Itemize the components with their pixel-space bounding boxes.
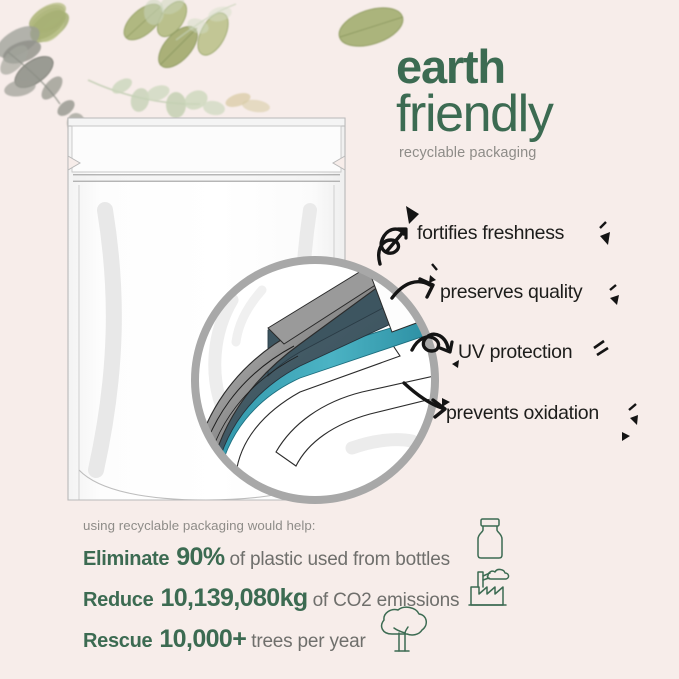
headline-line-1: earth	[396, 44, 666, 90]
accent-tick	[600, 222, 606, 228]
stat-verb: Eliminate	[83, 548, 169, 571]
smoke-cloud	[487, 569, 508, 579]
bottle-cap	[481, 519, 499, 526]
tree-branch	[405, 627, 408, 633]
accent-tick	[629, 404, 636, 410]
feature-label-uv-protection: UV protection	[458, 341, 572, 364]
stat-rest: of plastic used from bottles	[229, 549, 449, 571]
stat-row: Reduce 10,139,080kg of CO2 emissions	[83, 584, 603, 613]
stat-row: Rescue 10,000+ trees per year	[83, 625, 603, 654]
headline-subtitle: recyclable packaging	[396, 145, 666, 161]
accent-tick	[610, 285, 616, 290]
accent-tick	[594, 341, 604, 348]
stat-value: 90%	[176, 543, 224, 572]
stats-block: using recyclable packaging would help: E…	[83, 518, 603, 666]
accent-tick	[432, 264, 437, 270]
tree-icon	[374, 604, 432, 656]
tree-canopy	[382, 607, 427, 635]
tree-trunk	[399, 633, 405, 651]
accent-triangle	[622, 432, 630, 441]
headline-line-2: friendly	[396, 88, 666, 140]
stat-verb: Reduce	[83, 589, 153, 612]
accent-triangle	[600, 232, 610, 245]
feature-label-prevents-oxidation: prevents oxidation	[446, 402, 599, 425]
factory-icon	[466, 564, 514, 608]
accent-tick	[597, 348, 608, 355]
infographic-canvas: earth friendly recyclable packaging fort…	[0, 0, 679, 679]
bottle-icon	[470, 516, 510, 562]
feature-label-fortifies-freshness: fortifies freshness	[417, 222, 564, 245]
accent-triangle	[610, 295, 619, 305]
stats-intro: using recyclable packaging would help:	[83, 518, 603, 533]
stat-verb: Rescue	[83, 630, 152, 653]
stat-value: 10,139,080kg	[160, 584, 307, 613]
bottle-neck	[478, 526, 502, 558]
smoke-wisp	[483, 578, 489, 580]
stat-rest: trees per year	[251, 631, 365, 653]
factory-building	[471, 587, 503, 605]
accent-triangle	[429, 275, 436, 283]
tree-branch	[394, 628, 405, 633]
accent-triangle	[630, 415, 638, 425]
stat-value: 10,000+	[159, 625, 246, 654]
headline-block: earth friendly recyclable packaging	[396, 44, 666, 161]
factory-chimney	[478, 572, 483, 587]
feature-label-preserves-quality: preserves quality	[440, 281, 582, 304]
curved-arrow-icon	[392, 282, 430, 298]
stat-row: Eliminate 90% of plastic used from bottl…	[83, 543, 603, 572]
